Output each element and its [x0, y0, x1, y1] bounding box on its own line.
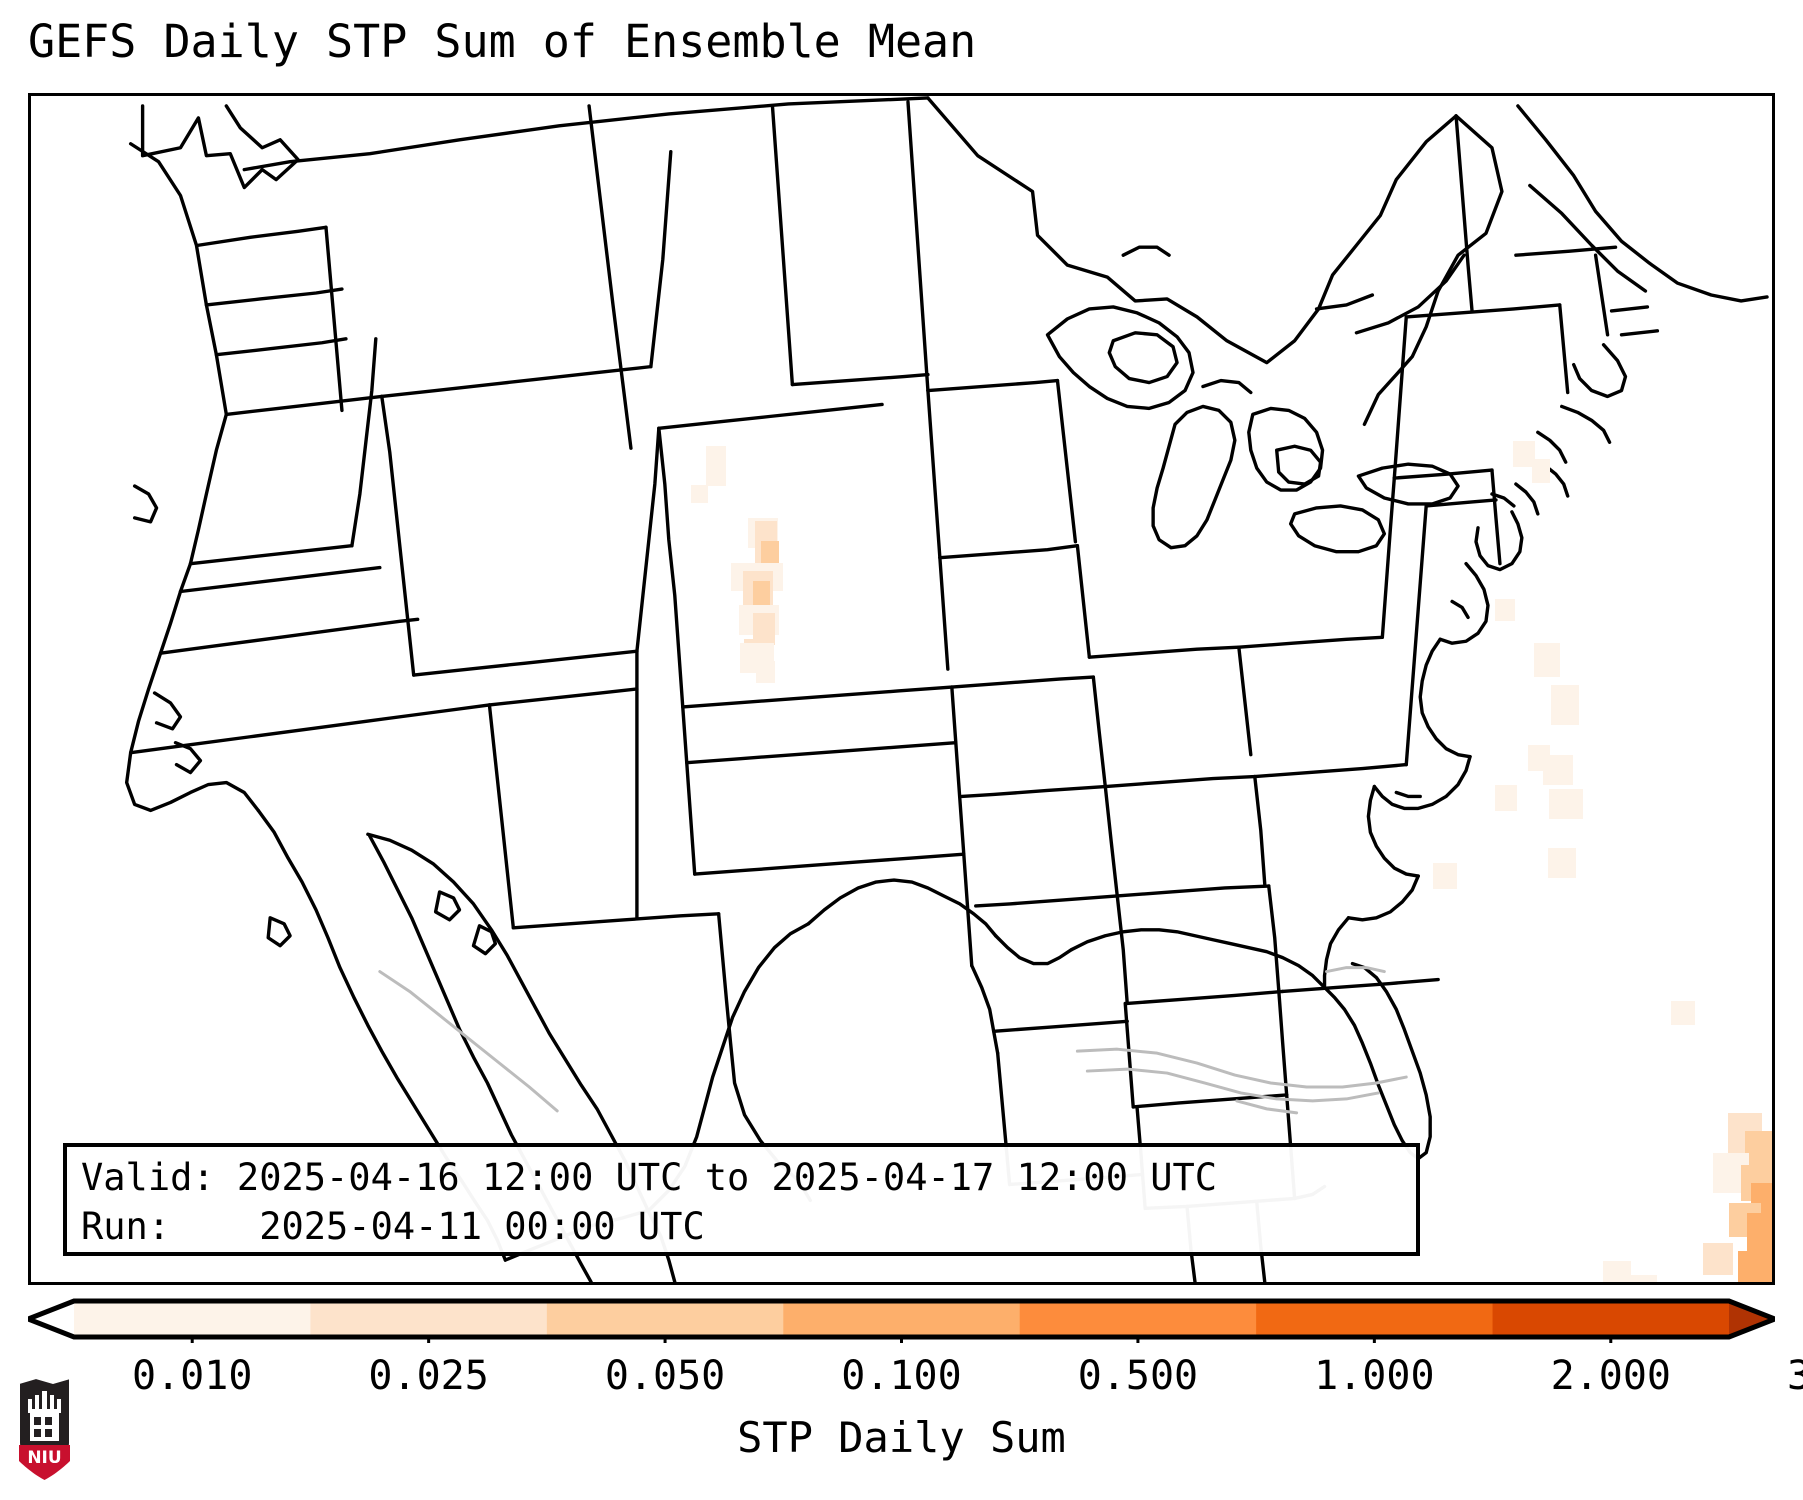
run-time-line: Run: 2025-04-11 00:00 UTC	[81, 1202, 1402, 1251]
colorbar-band	[310, 1301, 547, 1337]
map-outlines	[31, 96, 1772, 1282]
colorbar-tick-label: 0.100	[841, 1353, 961, 1399]
colorbar-tick-label: 2.000	[1551, 1353, 1671, 1399]
map-panel[interactable]: Valid: 2025-04-16 12:00 UTC to 2025-04-1…	[28, 93, 1775, 1285]
niu-logo[interactable]: NIU	[16, 1377, 73, 1481]
colorbar-tick-label: 0.010	[132, 1353, 252, 1399]
valid-time-line: Valid: 2025-04-16 12:00 UTC to 2025-04-1…	[81, 1153, 1402, 1202]
colorbar-band	[547, 1301, 784, 1337]
colorbar-band	[1020, 1301, 1257, 1337]
colorbar-tick-label: 0.050	[605, 1353, 725, 1399]
map-canvas	[31, 96, 1772, 1282]
colorbar-axis-label: STP Daily Sum	[0, 1412, 1803, 1464]
colorbar-tick-label: 0.500	[1078, 1353, 1198, 1399]
weather-map-figure: GEFS Daily STP Sum of Ensemble Mean	[0, 0, 1803, 1500]
colorbar[interactable]	[28, 1297, 1775, 1343]
colorbar-tick-label: 3.000	[1787, 1353, 1803, 1399]
niu-logo-shield: NIU	[16, 1377, 73, 1481]
info-box: Valid: 2025-04-16 12:00 UTC to 2025-04-1…	[63, 1143, 1420, 1256]
colorbar-tick-labels: 0.0100.0250.0500.1000.5001.0002.0003.000	[0, 1353, 1803, 1399]
niu-logo-text: NIU	[27, 1448, 61, 1468]
colorbar-gradient	[28, 1297, 1775, 1343]
colorbar-band	[1493, 1301, 1730, 1337]
colorbar-band	[1256, 1301, 1493, 1337]
colorbar-band	[783, 1301, 1020, 1337]
colorbar-tick-label: 0.025	[368, 1353, 488, 1399]
page-title: GEFS Daily STP Sum of Ensemble Mean	[28, 14, 976, 70]
colorbar-tick-label: 1.000	[1314, 1353, 1434, 1399]
colorbar-band	[74, 1301, 311, 1337]
